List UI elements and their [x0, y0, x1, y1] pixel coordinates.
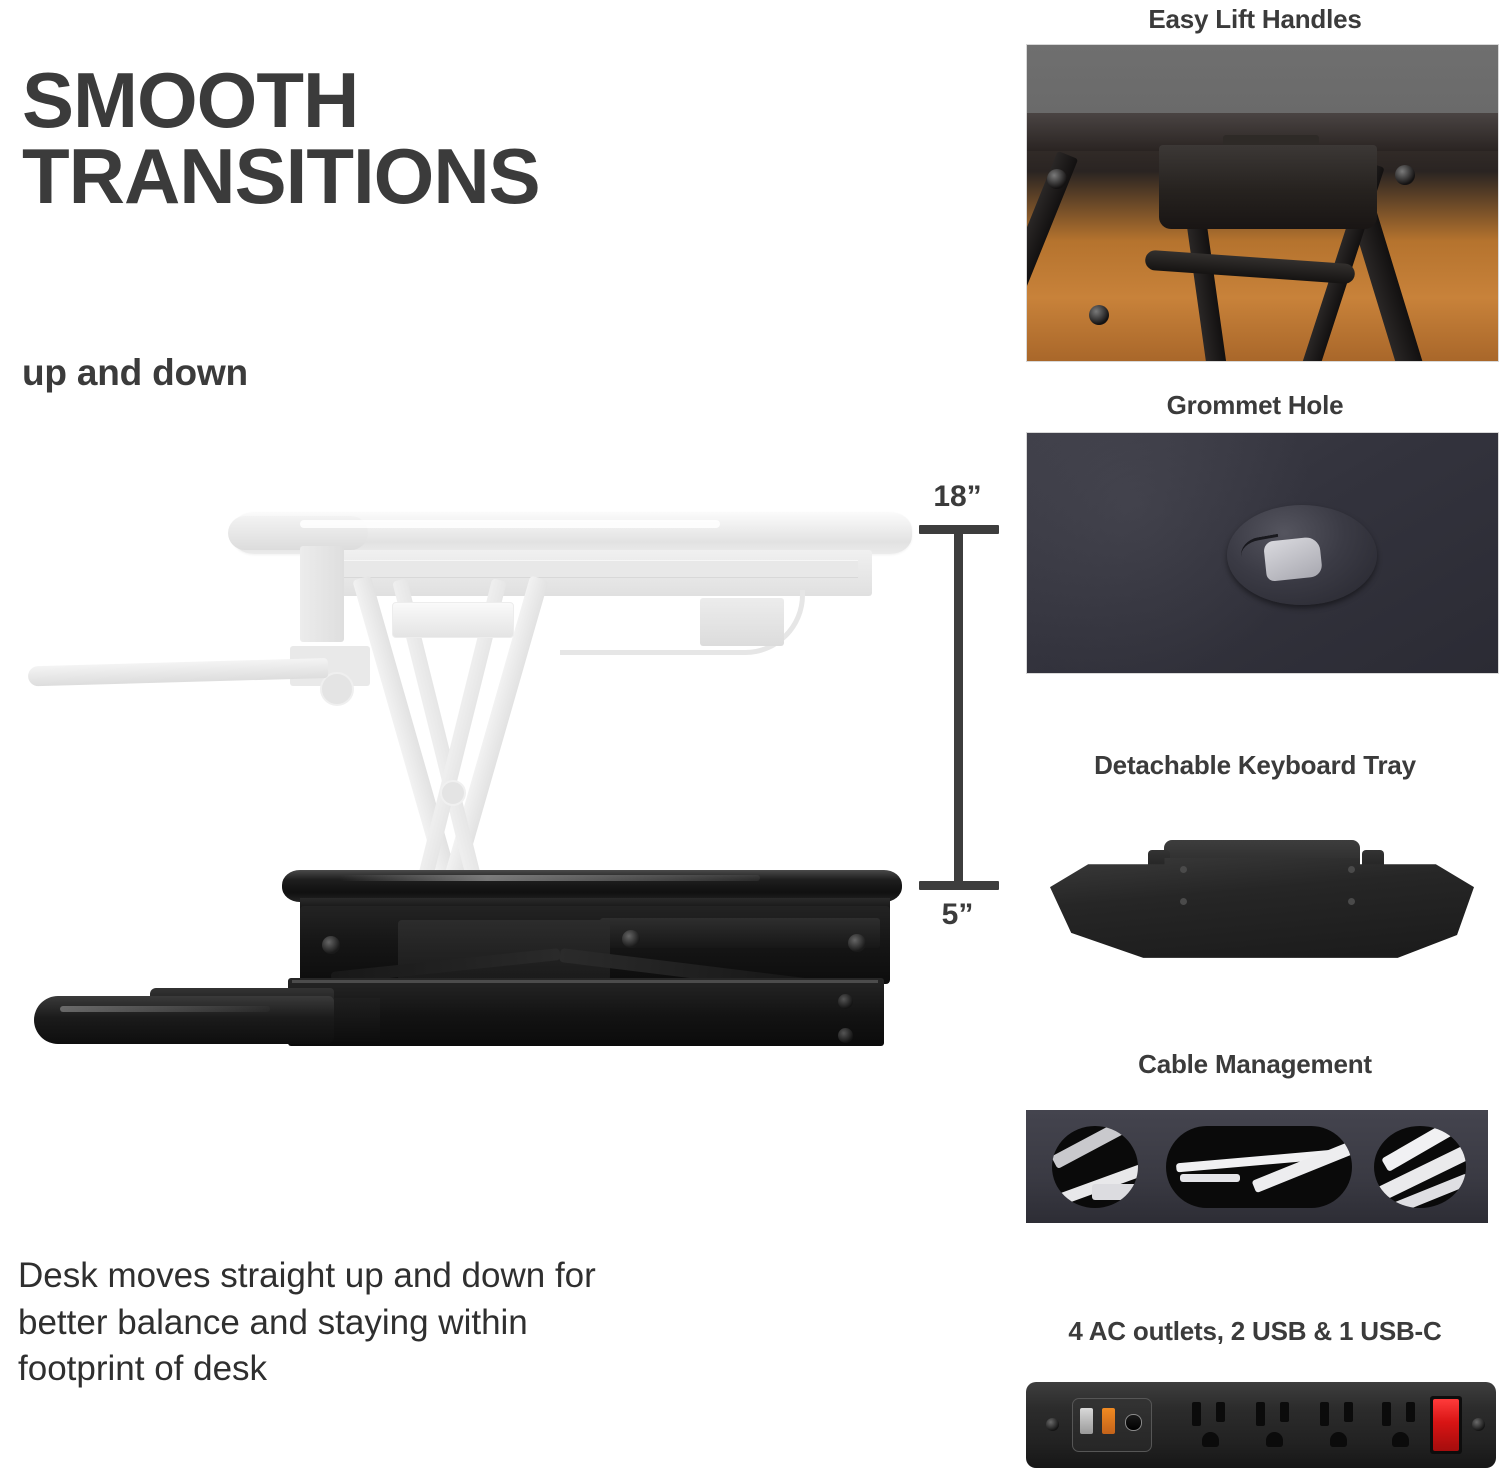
headline-line-2: TRANSITIONS — [22, 138, 862, 214]
feature-photo-power-strip — [1026, 1382, 1496, 1468]
cable-cutout — [1374, 1126, 1466, 1208]
base-screw — [838, 1028, 853, 1043]
description-caption: Desk moves straight up and down for bett… — [18, 1253, 778, 1393]
feature-label-cable-management: Cable Management — [1010, 1049, 1500, 1080]
desk-illustration — [0, 450, 1010, 1070]
keyboard-tray-screw-hole — [1180, 866, 1187, 873]
power-switch[interactable] — [1430, 1396, 1462, 1454]
outlet-slot — [1406, 1402, 1415, 1422]
caption-line-2: better balance and staying within — [18, 1300, 778, 1347]
outlet-ground-slot — [1202, 1432, 1219, 1447]
feature-label-grommet-hole: Grommet Hole — [1010, 390, 1500, 421]
feature-photo-easy-lift-handles — [1026, 44, 1499, 362]
lift-handle — [1159, 145, 1377, 229]
ac-outlet-icon — [1374, 1402, 1430, 1450]
frame-bolt — [1089, 305, 1109, 325]
caption-line-1: Desk moves straight up and down for — [18, 1253, 778, 1300]
lowered-keyboard-tray-highlight — [60, 1006, 270, 1012]
outlet-slot — [1216, 1402, 1225, 1422]
frame-bolt — [1395, 165, 1415, 185]
usb-a-quick-charge-port-icon — [1102, 1408, 1115, 1434]
frame-crossbar — [1145, 250, 1356, 285]
outlet-slot — [1280, 1402, 1289, 1422]
raised-scissor-center-pivot — [440, 780, 466, 806]
cable-cutout — [1166, 1126, 1352, 1208]
left-panel: SMOOTH TRANSITIONS up and down — [0, 0, 1010, 1482]
cable-cutout — [1052, 1126, 1138, 1208]
raised-cable-clip — [700, 598, 784, 646]
min-height-label: 5” — [905, 898, 1010, 932]
ac-outlet-icon — [1184, 1402, 1240, 1450]
feature-label-power-strip: 4 AC outlets, 2 USB & 1 USB-C — [1010, 1316, 1500, 1347]
feature-photo-cable-management — [1026, 1110, 1488, 1223]
ac-outlet-icon — [1248, 1402, 1304, 1450]
usb-c-port-icon — [1125, 1414, 1142, 1431]
power-strip-screw — [1046, 1418, 1059, 1431]
feature-photo-grommet-hole — [1026, 432, 1499, 674]
outlet-ground-slot — [1330, 1432, 1347, 1447]
lowered-mechanism-rail — [600, 918, 880, 948]
lowered-keyboard-tray — [34, 996, 334, 1044]
usb-a-port-icon — [1080, 1408, 1093, 1434]
grommet-slot — [1263, 536, 1323, 582]
lowered-desk-top-highlight — [340, 875, 760, 881]
keyboard-tray-screw-hole — [1348, 866, 1355, 873]
raised-desk-left-bracket — [300, 546, 344, 642]
keyboard-tray-screw-hole — [1180, 898, 1187, 905]
feature-label-easy-lift-handles: Easy Lift Handles — [1010, 4, 1500, 35]
outlet-slot — [1192, 1402, 1201, 1426]
mechanism-screw — [322, 936, 340, 954]
raised-desk-top-highlight — [300, 520, 720, 528]
caption-line-3: footprint of desk — [18, 1346, 778, 1393]
feature-callouts-panel: Easy Lift Handles Grommet Hole Detachabl… — [1010, 0, 1500, 1482]
max-height-label: 18” — [905, 480, 1010, 514]
raised-desk-rail — [318, 560, 858, 578]
ac-outlet-icon — [1312, 1402, 1368, 1450]
outlet-slot — [1256, 1402, 1265, 1426]
feature-photo-detachable-keyboard-tray — [1026, 812, 1497, 1012]
outlet-slot — [1382, 1402, 1391, 1426]
subheadline: up and down — [22, 352, 248, 394]
frame-bolt — [1047, 169, 1067, 189]
cable — [1052, 1126, 1138, 1169]
feature-label-detachable-keyboard-tray: Detachable Keyboard Tray — [1010, 750, 1500, 781]
mechanism-screw — [622, 930, 640, 948]
height-dimension-callout: 18” 5” — [905, 480, 1010, 945]
keyboard-tray-screw-hole — [1348, 898, 1355, 905]
power-strip-screw — [1472, 1418, 1485, 1431]
outlet-slot — [1320, 1402, 1329, 1426]
lowered-desk-base-highlight — [292, 980, 878, 983]
cable — [1180, 1174, 1240, 1182]
power-plug — [1092, 1184, 1138, 1200]
mechanism-screw — [848, 934, 866, 952]
raised-gas-spring — [392, 602, 514, 638]
cable — [1252, 1140, 1352, 1193]
headline-line-1: SMOOTH — [22, 62, 862, 138]
dimension-tick-bottom-icon — [919, 881, 999, 890]
raised-keyboard-tray — [28, 658, 328, 686]
power-switch-rocker-icon — [1433, 1399, 1459, 1451]
dimension-line-icon — [954, 530, 963, 888]
keyboard-tray-body — [1050, 858, 1474, 962]
outlet-ground-slot — [1392, 1432, 1409, 1447]
page-title: SMOOTH TRANSITIONS — [22, 62, 862, 215]
outlet-slot — [1344, 1402, 1353, 1422]
base-screw — [838, 994, 853, 1009]
outlet-ground-slot — [1266, 1432, 1283, 1447]
